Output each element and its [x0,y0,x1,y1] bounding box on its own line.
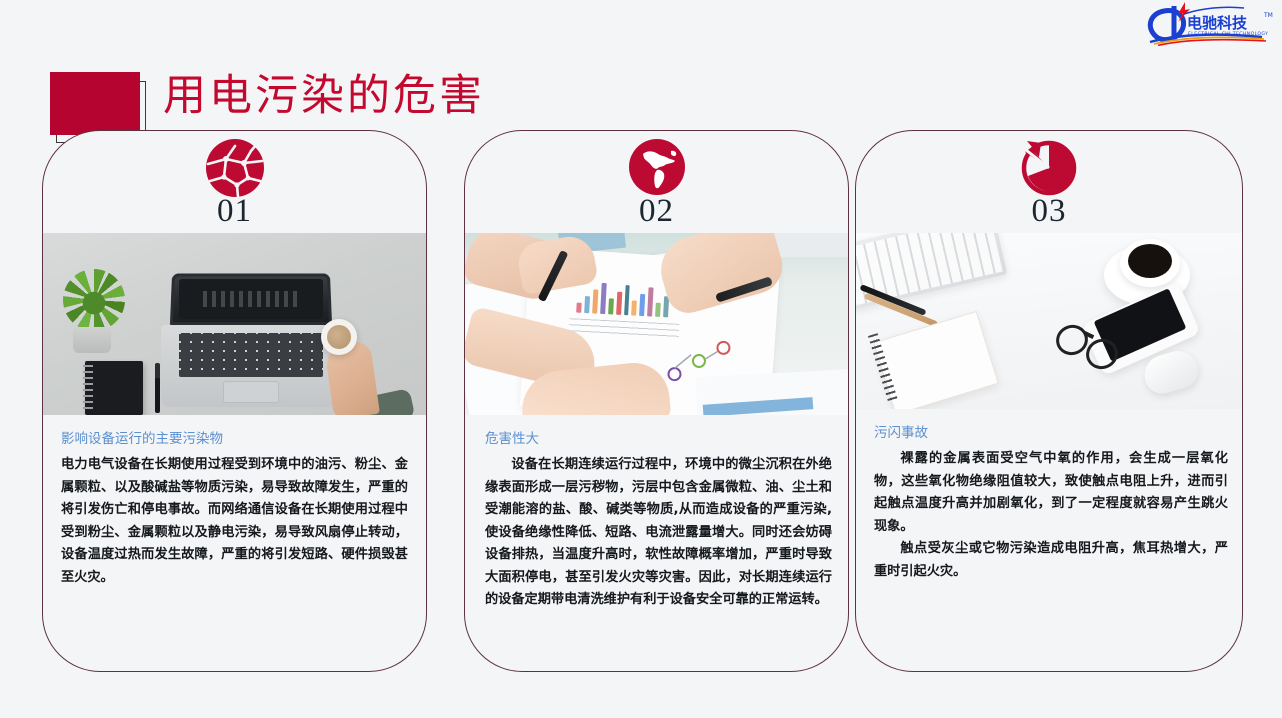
desk-laptop-coffee-photo [43,233,426,415]
white-desk-office-photo [856,233,1242,409]
slide-header: 用电污染的危害 [0,30,700,125]
logo-svg: 电驰科技 TM ELECTRICAL CHI TECHNOLOGY [1140,0,1282,46]
card-02-number: 02 [465,193,848,230]
title-accent-square [50,72,140,135]
card-03-paragraph-1: 裸露的金属表面受空气中氧的作用，会生成一层氧化物，这些氧化物绝缘阻值较大，致使触… [874,448,1228,538]
card-03-number: 03 [856,193,1242,230]
logo-trademark: TM [1263,12,1273,19]
card-02-body: 危害性大 设备在长期连续运行过程中，环境中的微尘沉积在外绝缘表面形成一层污秽物，… [465,415,848,612]
world-globe-svg [627,137,687,197]
cracked-globe-svg [204,137,266,199]
world-globe-icon [465,137,848,197]
card-grid: 01 [0,130,1282,675]
card-02-head: 02 [465,131,848,233]
card-01-head: 01 [43,131,426,233]
logo-brand-en: ELECTRICAL CHI TECHNOLOGY [1188,31,1268,37]
logo-brand-cn: 电驰科技 [1187,14,1248,32]
card-02-paragraph-1: 设备在长期连续运行过程中，环境中的微尘沉积在外绝缘表面形成一层污秽物，污层中包含… [485,454,832,612]
card-03-subtitle: 污闪事故 [874,423,1228,443]
card-03[interactable]: 03 [855,130,1243,672]
card-01[interactable]: 01 [42,130,427,672]
photo-bar-chart [576,279,670,318]
photo-diagram [660,336,738,385]
card-02-subtitle: 危害性大 [485,429,832,449]
card-01-subtitle: 影响设备运行的主要污染物 [61,429,408,449]
card-01-number: 01 [43,193,426,230]
pie-arrow-circle-svg [1019,137,1079,197]
cracked-globe-icon [43,137,426,199]
company-logo: 电驰科技 TM ELECTRICAL CHI TECHNOLOGY [1140,0,1282,46]
card-03-paragraph-2: 触点受灰尘或它物污染造成电阻升高，焦耳热增大，严重时引起火灾。 [874,538,1228,583]
card-02[interactable]: 02 [464,130,849,672]
meeting-hands-charts-photo [465,233,848,415]
card-03-head: 03 [856,131,1242,233]
card-03-body: 污闪事故 裸露的金属表面受空气中氧的作用，会生成一层氧化物，这些氧化物绝缘阻值较… [856,409,1242,583]
card-01-body: 影响设备运行的主要污染物 电力电气设备在长期使用过程受到环境中的油污、粉尘、金属… [43,415,426,589]
page-title: 用电污染的危害 [163,66,485,126]
slide-root: 电驰科技 TM ELECTRICAL CHI TECHNOLOGY 用电污染的危… [0,0,1282,718]
pie-arrow-circle-icon [856,137,1242,197]
card-01-paragraph-1: 电力电气设备在长期使用过程受到环境中的油污、粉尘、金属颗粒、以及酸碱盐等物质污染… [61,454,408,589]
